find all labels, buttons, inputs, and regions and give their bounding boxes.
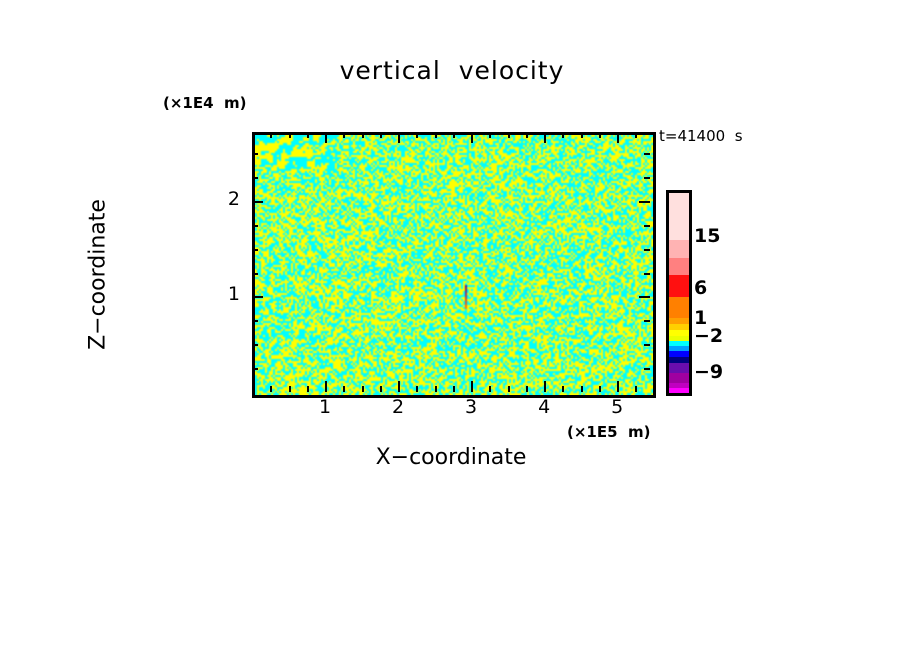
x-tick-top [617, 132, 619, 143]
y-tick-label: 1 [212, 283, 240, 305]
colorbar-band [669, 388, 689, 393]
x-tick-bottom [362, 386, 364, 392]
y-tick-left [252, 177, 258, 179]
x-tick-label: 2 [378, 396, 418, 418]
y-tick-right [644, 153, 650, 155]
x-tick-bottom [380, 386, 382, 392]
x-tick-bottom [599, 386, 601, 392]
vertical-velocity-field [255, 135, 653, 395]
x-tick-top [635, 132, 637, 138]
y-tick-right [639, 201, 650, 203]
x-tick-bottom [398, 381, 400, 392]
y-tick-right [644, 320, 650, 322]
colorbar-band [669, 193, 689, 240]
x-tick-bottom [343, 386, 345, 392]
x-axis-title: X−coordinate [252, 445, 650, 470]
y-tick-left [252, 320, 258, 322]
x-tick-top [325, 132, 327, 143]
x-tick-bottom [416, 386, 418, 392]
x-tick-top [544, 132, 546, 143]
y-tick-left [252, 225, 258, 227]
y-axis-title: Z−coordinate [86, 125, 111, 425]
x-tick-top [526, 132, 528, 138]
x-tick-bottom [325, 381, 327, 392]
y-tick-right [644, 368, 650, 370]
x-tick-bottom [489, 386, 491, 392]
x-tick-top [435, 132, 437, 138]
x-axis-unit-label: (×1E5 m) [567, 423, 650, 441]
x-tick-bottom [471, 381, 473, 392]
x-tick-top [398, 132, 400, 143]
colorbar-band [669, 240, 689, 258]
y-tick-left [252, 249, 258, 251]
x-tick-bottom [435, 386, 437, 392]
x-tick-label: 1 [305, 396, 345, 418]
x-tick-label: 5 [597, 396, 637, 418]
y-tick-left [252, 296, 263, 298]
colorbar-band [669, 258, 689, 275]
figure-canvas: vertical velocity (×1E4 m) t=41400 s 123… [0, 0, 904, 654]
x-tick-top [416, 132, 418, 138]
y-tick-right [639, 296, 650, 298]
x-tick-bottom [581, 386, 583, 392]
x-tick-bottom [289, 386, 291, 392]
x-tick-top [343, 132, 345, 138]
x-tick-bottom [307, 386, 309, 392]
y-axis-unit-label: (×1E4 m) [163, 94, 246, 112]
x-tick-label: 4 [524, 396, 564, 418]
page-title: vertical velocity [0, 56, 904, 85]
x-tick-bottom [562, 386, 564, 392]
x-tick-top [562, 132, 564, 138]
colorbar-tick-label: 15 [694, 225, 720, 247]
x-tick-top [453, 132, 455, 138]
colorbar [666, 190, 692, 396]
x-tick-top [508, 132, 510, 138]
y-tick-right [644, 249, 650, 251]
colorbar-tick-label: 6 [694, 277, 707, 299]
x-tick-top [581, 132, 583, 138]
x-tick-bottom [544, 381, 546, 392]
contour-plot-area [252, 132, 656, 398]
y-tick-right [644, 177, 650, 179]
colorbar-tick-label: −2 [694, 325, 723, 347]
x-tick-bottom [270, 386, 272, 392]
y-tick-left [252, 344, 258, 346]
y-tick-left [252, 273, 258, 275]
x-tick-bottom [617, 381, 619, 392]
x-tick-bottom [635, 386, 637, 392]
y-tick-right [644, 273, 650, 275]
colorbar-band [669, 363, 689, 373]
y-tick-left [252, 201, 263, 203]
y-tick-label: 2 [212, 188, 240, 210]
x-tick-top [489, 132, 491, 138]
x-tick-bottom [508, 386, 510, 392]
x-tick-top [380, 132, 382, 138]
x-tick-top [599, 132, 601, 138]
x-tick-label: 3 [451, 396, 491, 418]
y-tick-left [252, 153, 258, 155]
x-tick-top [471, 132, 473, 143]
x-tick-bottom [526, 386, 528, 392]
x-tick-top [362, 132, 364, 138]
y-tick-right [644, 225, 650, 227]
x-tick-top [289, 132, 291, 138]
x-tick-bottom [453, 386, 455, 392]
y-tick-left [252, 368, 258, 370]
x-tick-top [307, 132, 309, 138]
time-annotation: t=41400 s [659, 127, 743, 145]
colorbar-tick-label: −9 [694, 361, 723, 383]
y-tick-right [644, 344, 650, 346]
colorbar-band [669, 373, 689, 383]
colorbar-band [669, 297, 689, 318]
colorbar-band [669, 275, 689, 297]
x-tick-top [270, 132, 272, 138]
